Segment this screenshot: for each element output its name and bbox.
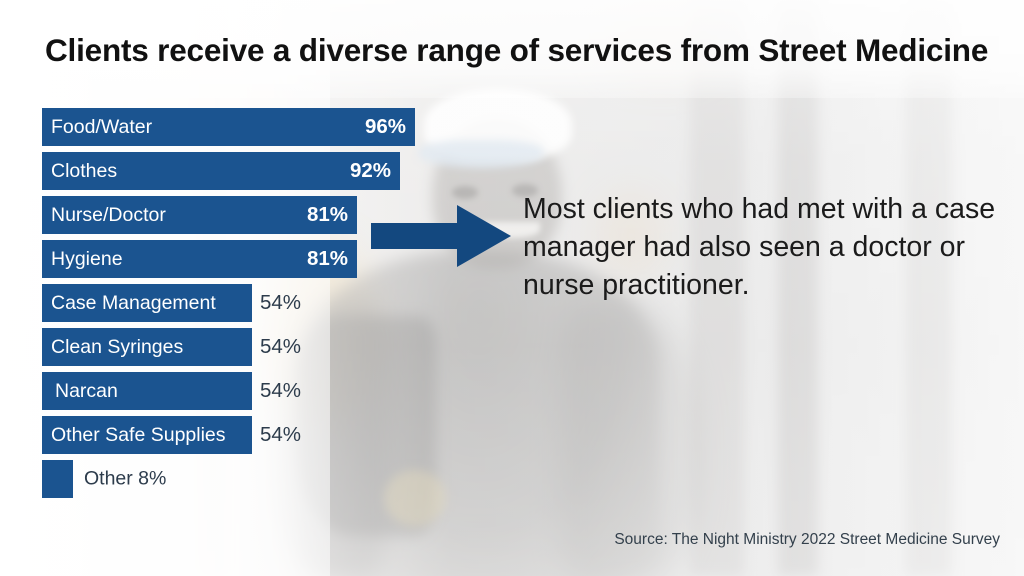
bar-narcan: Narcan [42,372,252,410]
bar-other-label: Other 8% [84,468,166,491]
chart-row: Other 8% [42,460,462,498]
bar-food-water: Food/Water 96% [42,108,415,146]
page-title: Clients receive a diverse range of servi… [45,32,1010,69]
chart-row: Other Safe Supplies 54% [42,416,462,454]
bar-case-management: Case Management [42,284,252,322]
bar-label: Hygiene [42,248,123,271]
bar-label: Food/Water [42,116,152,139]
bar-value: 54% [260,335,301,359]
right-arrow-icon [371,205,511,267]
chart-row: Clothes 92% [42,152,462,190]
slide: Clients receive a diverse range of servi… [0,0,1024,576]
bar-clean-syringes: Clean Syringes [42,328,252,366]
bar-clothes: Clothes 92% [42,152,400,190]
chart-row: Narcan 54% [42,372,462,410]
bar-value: 54% [260,379,301,403]
bar-value: 96% [365,115,406,139]
chart-row: Clean Syringes 54% [42,328,462,366]
bar-value: 54% [260,291,301,315]
bar-other-safe-supplies: Other Safe Supplies [42,416,252,454]
bar-label: Clean Syringes [42,336,183,359]
chart-row: Food/Water 96% [42,108,462,146]
bar-label: Narcan [42,380,118,403]
bar-value: 54% [260,423,301,447]
chart-row: Case Management 54% [42,284,462,322]
bar-label: Clothes [42,160,117,183]
bar-value: 81% [307,247,348,271]
bar-label: Other Safe Supplies [42,424,226,447]
bar-label: Case Management [42,292,216,315]
bar-value: 92% [350,159,391,183]
source-note: Source: The Night Ministry 2022 Street M… [0,531,1000,549]
callout-text: Most clients who had met with a case man… [523,190,1003,304]
slide-content: Clients receive a diverse range of servi… [0,0,1024,576]
bar-label: Nurse/Doctor [42,204,166,227]
bar-other [42,460,73,498]
bar-value: 81% [307,203,348,227]
bar-hygiene: Hygiene 81% [42,240,357,278]
bar-nurse-doctor: Nurse/Doctor 81% [42,196,357,234]
bar-chart: Food/Water 96% Clothes 92% Nurse/Doctor … [42,108,462,504]
